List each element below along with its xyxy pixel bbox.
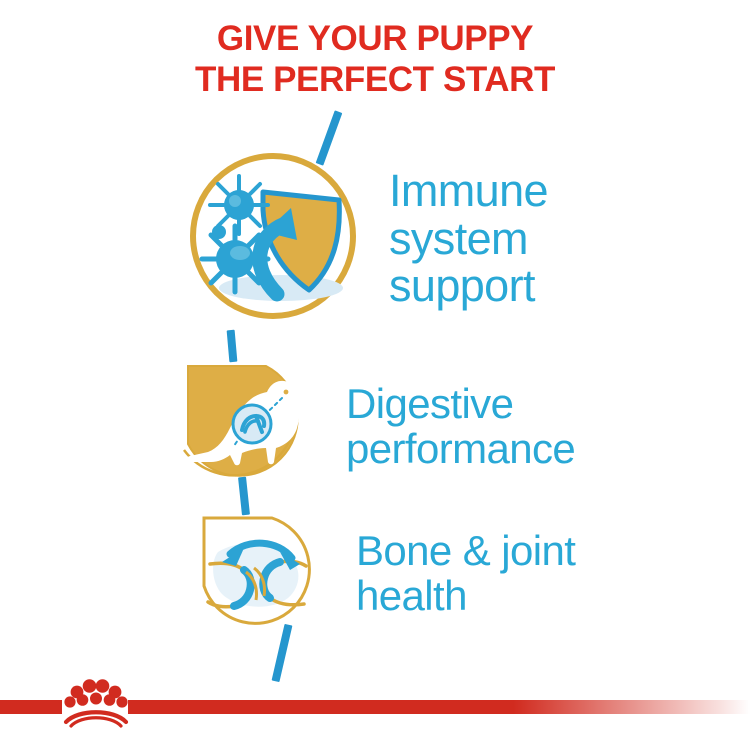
- page-title: GIVE YOUR PUPPY THE PERFECT START: [0, 18, 750, 101]
- immune-shield-icon: [185, 148, 361, 329]
- brand-bar-left-segment: [0, 700, 62, 714]
- page-title-line-2: THE PERFECT START: [0, 59, 750, 100]
- bone-joint-svg: [196, 512, 320, 630]
- benefit-row-digestive: Digestive performance: [178, 358, 575, 495]
- digestive-dog-icon: [178, 358, 314, 495]
- royal-canin-crown-logo: [60, 676, 132, 732]
- benefit-label-bone-joint: Bone & joint health: [356, 529, 575, 618]
- benefit-row-bone-joint: Bone & joint health: [196, 512, 575, 635]
- infographic-page: GIVE YOUR PUPPY THE PERFECT START: [0, 0, 750, 750]
- benefit-label-immune: Immune system support: [389, 167, 548, 310]
- crown-svg: [60, 676, 132, 732]
- digestive-dog-svg: [178, 358, 314, 490]
- page-title-line-1: GIVE YOUR PUPPY: [0, 18, 750, 59]
- immune-shield-svg: [185, 148, 361, 324]
- benefit-row-immune: Immune system support: [185, 148, 548, 329]
- bone-joint-icon: [196, 512, 320, 635]
- brand-bar-right-segment: [128, 700, 750, 714]
- benefit-label-digestive: Digestive performance: [346, 382, 575, 471]
